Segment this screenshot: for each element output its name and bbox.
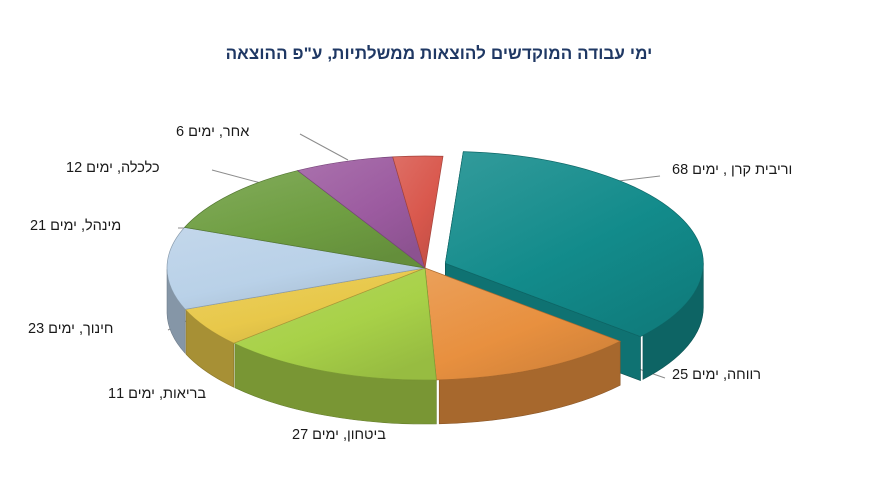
pie-chart-figure: ימי עבודה המוקדשים להוצאות ממשלתיות, ע"פ… <box>0 0 878 492</box>
pie-slice-label: רווחה, ימים 25 <box>672 368 761 384</box>
pie-slice-label: חינוך, ימים 23 <box>28 322 113 338</box>
pie-chart-canvas <box>0 0 878 492</box>
pie-slice-label: ביטחון, ימים 27 <box>292 428 386 444</box>
pie-slice-label: אחר, ימים 6 <box>176 125 249 141</box>
pie-slice-label: כלכלה, ימים 12 <box>66 161 160 177</box>
pie-slice-label: בריאות, ימים 11 <box>108 387 206 403</box>
pie-slice-label: מינהל, ימים 21 <box>30 219 121 235</box>
pie-slice-label: וריבית קרן , ימים 68 <box>672 163 792 179</box>
